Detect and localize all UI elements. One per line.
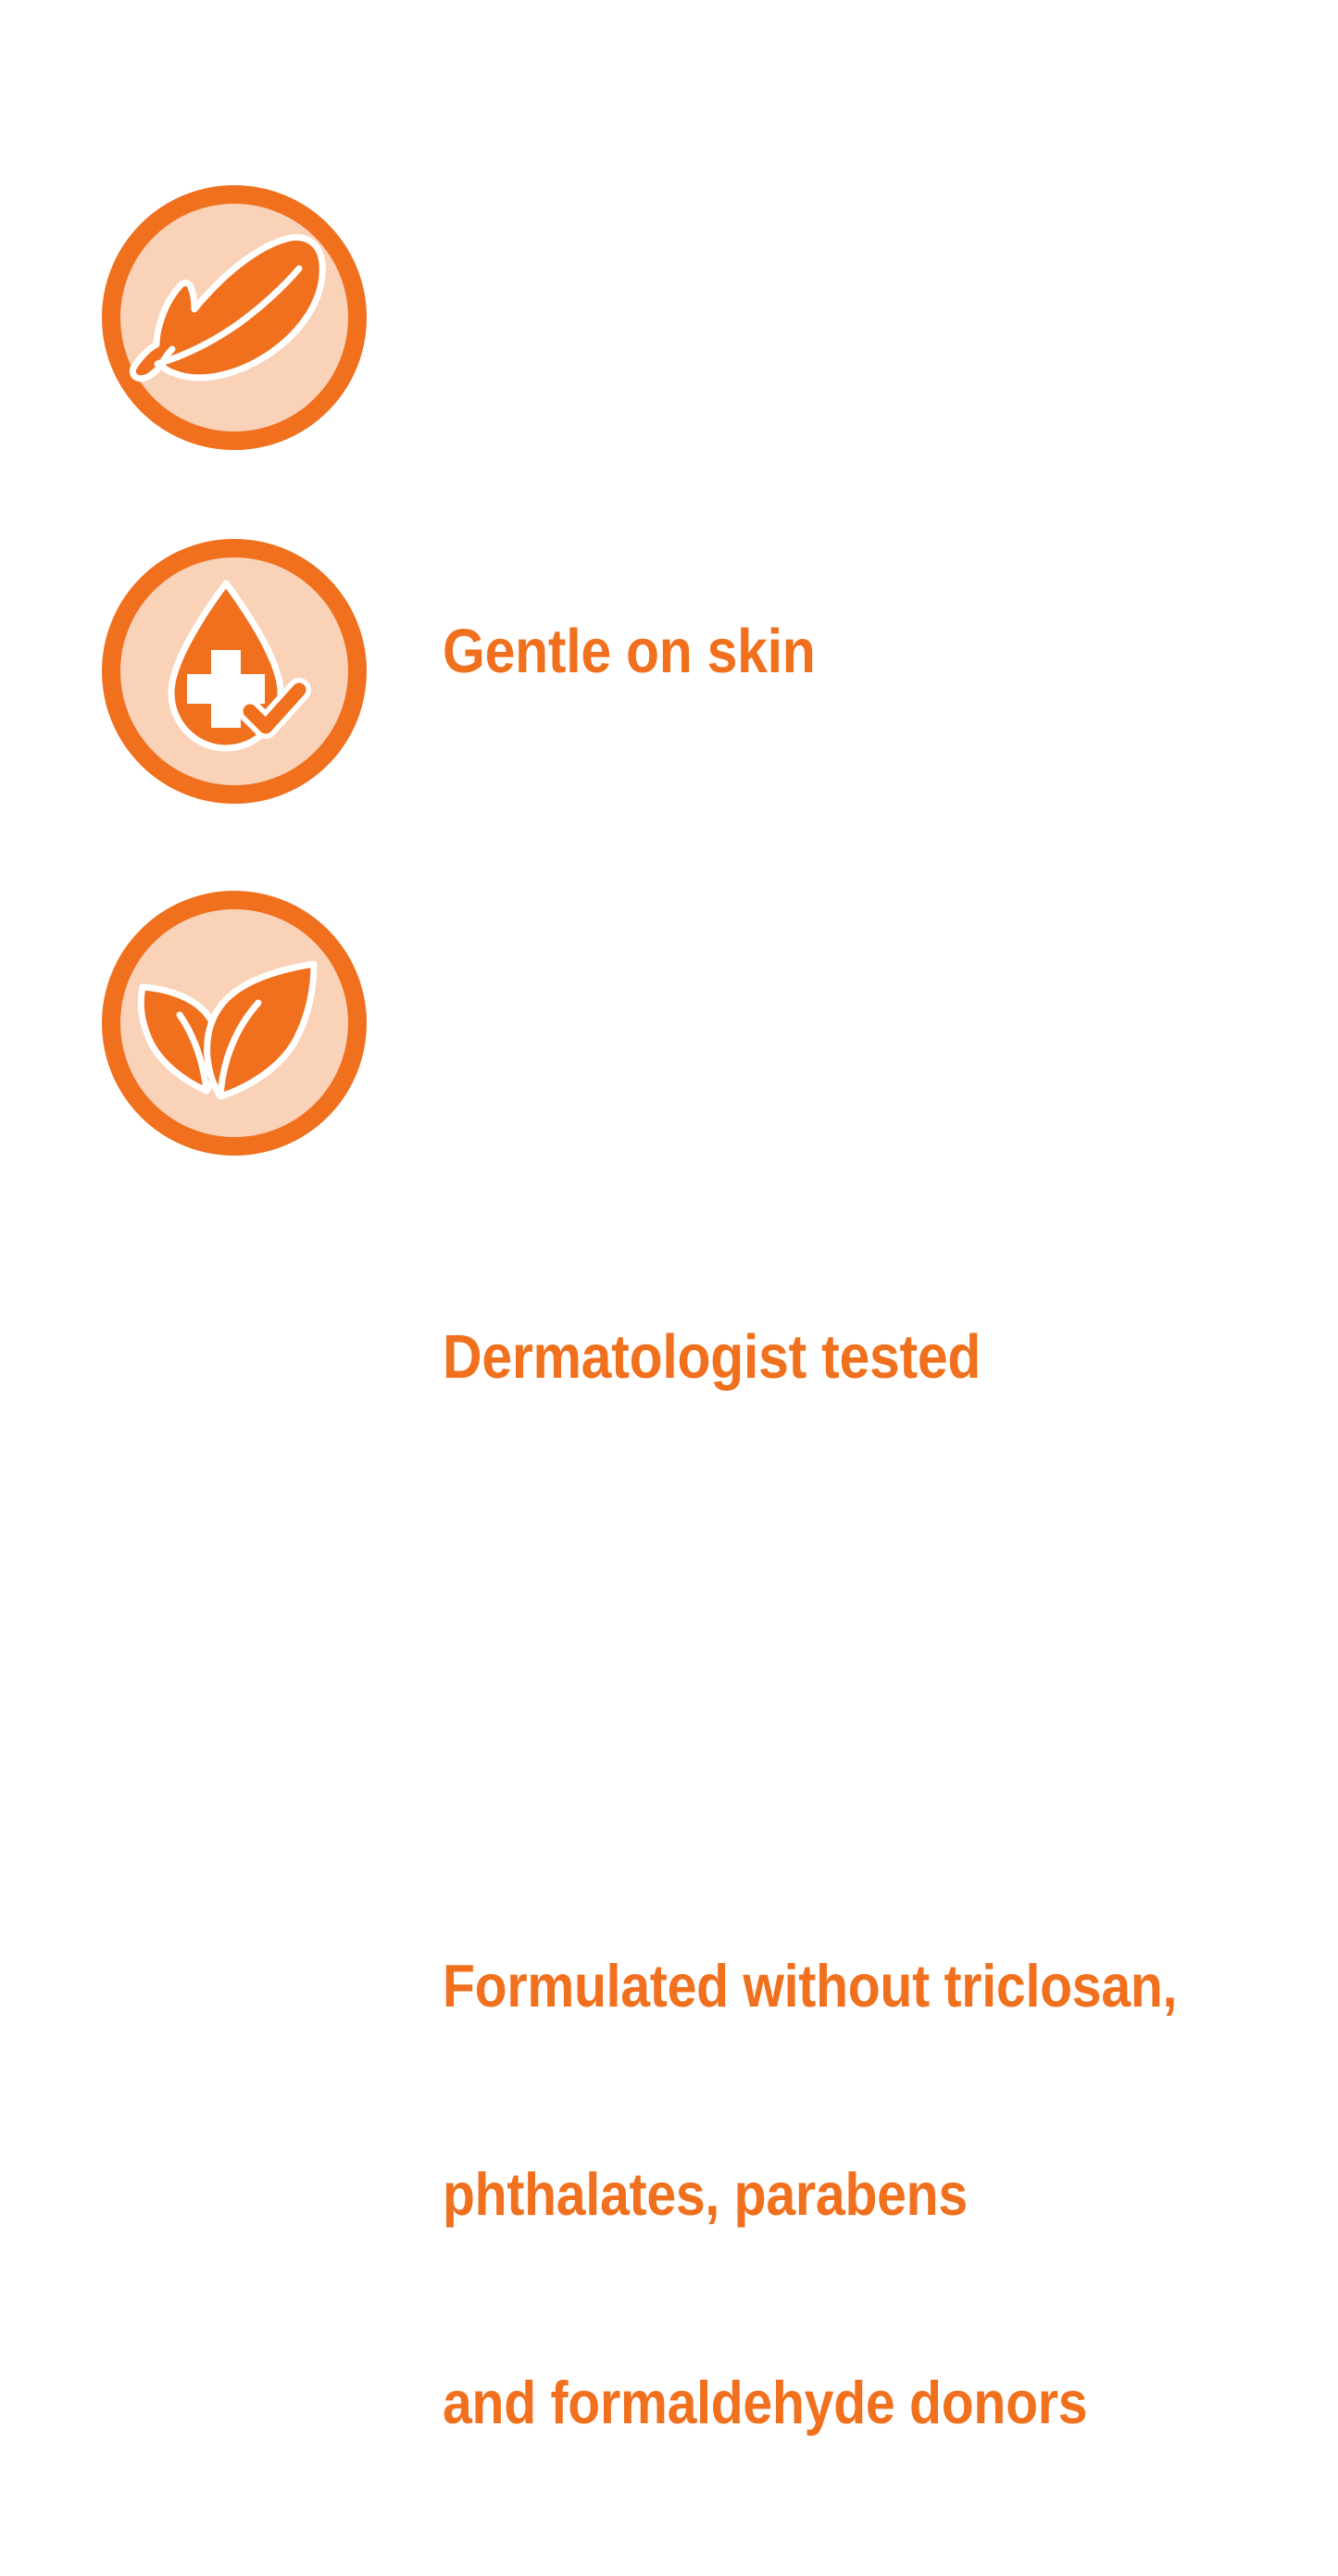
feature-label-line: Formulated without triclosan,: [443, 1951, 1177, 2020]
feature-label-dermatologist-tested: Dermatologist tested: [443, 1182, 981, 1533]
leaves-icon-badge: [102, 891, 367, 1156]
feature-label-formulated-without: Formulated without triclosan, phthalates…: [443, 1812, 1177, 2576]
feature-label-line: phthalates, parabens: [443, 2159, 1177, 2229]
feature-benefits-panel: Gentle on skin Dermatologist tested: [0, 0, 1338, 1339]
feature-label-line: Dermatologist tested: [443, 1322, 981, 1393]
feature-row: Formulated without triclosan, phthalates…: [0, 891, 1338, 1156]
feather-icon-badge: [102, 185, 367, 450]
droplet-medical-cross-check-icon-badge: [102, 539, 367, 804]
feature-row: Gentle on skin: [0, 185, 1338, 450]
feature-label-line: and formaldehyde donors: [443, 2368, 1177, 2437]
feature-row: Dermatologist tested: [0, 539, 1338, 804]
